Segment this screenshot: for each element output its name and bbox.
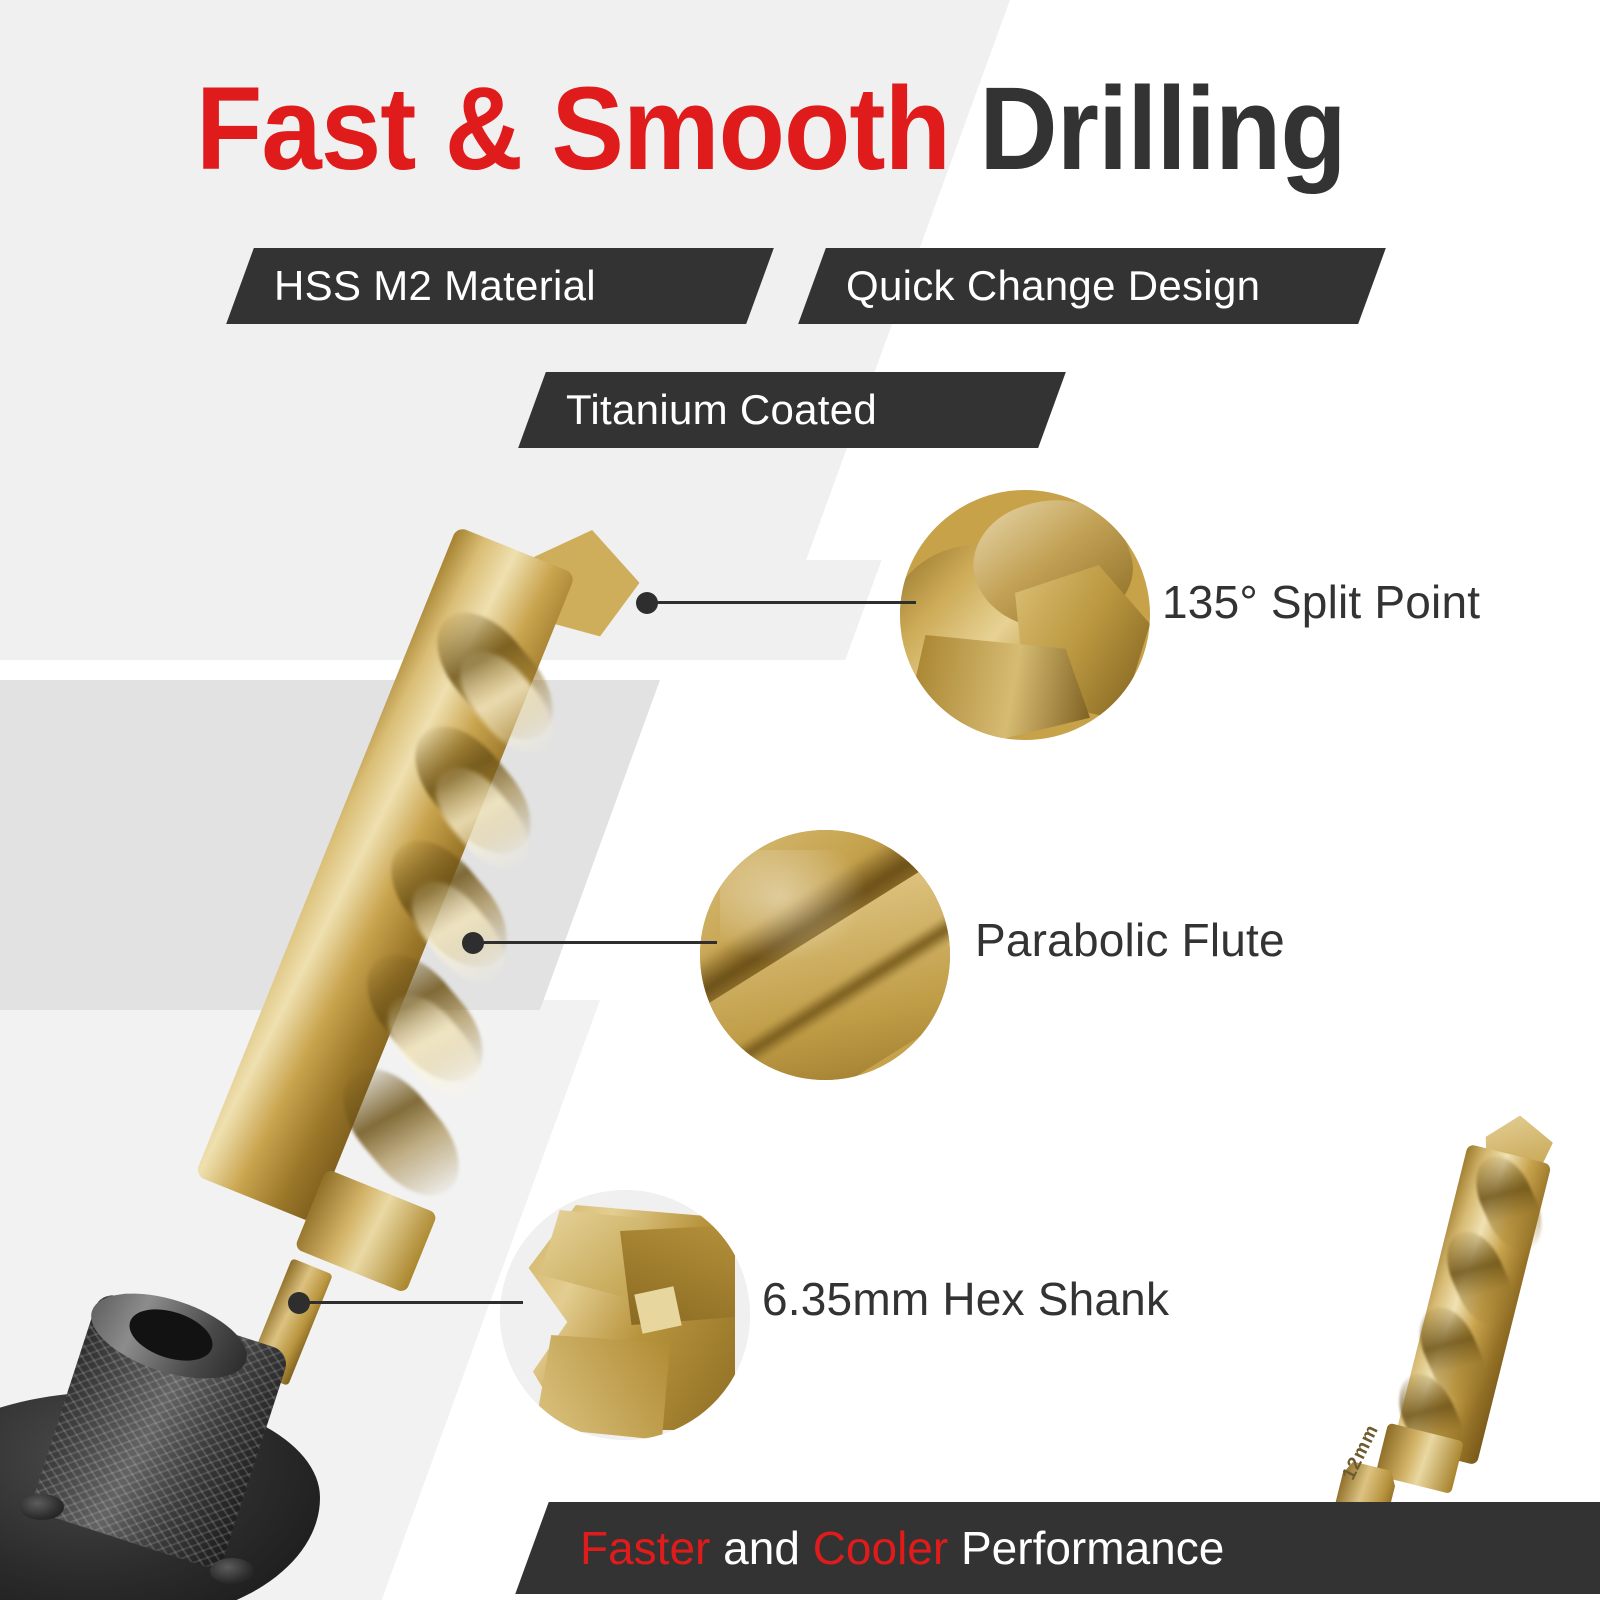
callout-label-split-point: 135° Split Point	[1162, 575, 1480, 629]
leader-line-parabolic-flute	[482, 941, 717, 944]
leader-line-hex-shank	[308, 1301, 523, 1304]
callout-image-parabolic-flute	[700, 830, 950, 1080]
callout-label-hex-shank: 6.35mm Hex Shank	[762, 1272, 1169, 1326]
bottom-banner-text: Faster and Cooler Performance	[532, 1521, 1224, 1575]
bottom-banner-word-cooler: Cooler	[813, 1522, 949, 1574]
infographic-canvas: Fast & Smooth Drilling HSS M2 Material Q…	[0, 0, 1600, 1600]
bottom-banner: Faster and Cooler Performance	[515, 1502, 1600, 1594]
feature-banner-label: Quick Change Design	[812, 262, 1294, 310]
page-title-red: Fast & Smooth	[196, 63, 950, 195]
bottom-banner-word-faster: Faster	[580, 1522, 710, 1574]
split-point-art	[900, 490, 1150, 740]
feature-banner-hss-m2-material: HSS M2 Material	[226, 248, 774, 324]
chuck-screw	[210, 1558, 254, 1584]
flute-art	[700, 830, 950, 1080]
hex-notch	[634, 1286, 681, 1333]
callout-image-split-point	[900, 490, 1150, 740]
bottom-banner-word-and: and	[710, 1522, 812, 1574]
feature-banner-titanium-coated: Titanium Coated	[518, 372, 1066, 448]
callout-image-hex-shank	[500, 1190, 750, 1440]
leader-dot-hex-shank	[288, 1292, 310, 1314]
feature-banner-label: Titanium Coated	[532, 386, 911, 434]
page-title: Fast & Smooth Drilling	[196, 64, 1337, 194]
quick-change-chuck-image	[0, 1272, 380, 1600]
bottom-banner-word-performance: Performance	[948, 1522, 1224, 1574]
feature-banner-quick-change-design: Quick Change Design	[798, 248, 1386, 324]
leader-line-split-point	[656, 601, 916, 604]
hex-shank-art	[500, 1190, 750, 1440]
point-facet	[915, 635, 1090, 740]
feature-banner-label: HSS M2 Material	[240, 262, 630, 310]
leader-dot-parabolic-flute	[462, 932, 484, 954]
leader-dot-split-point	[636, 592, 658, 614]
callout-label-parabolic-flute: Parabolic Flute	[975, 913, 1285, 967]
flute-gloss	[720, 850, 870, 965]
hex-facet	[535, 1335, 670, 1440]
page-title-dark: Drilling	[950, 63, 1346, 195]
chuck-screw	[20, 1494, 64, 1520]
